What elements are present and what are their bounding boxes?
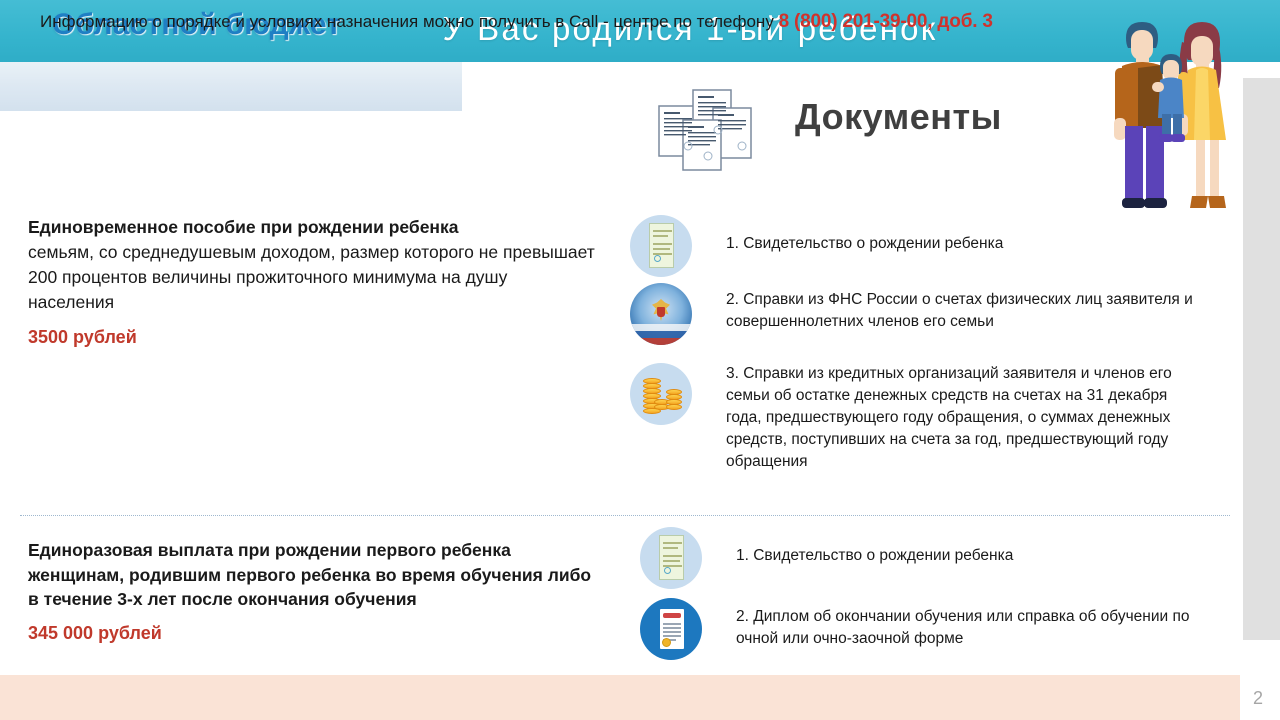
documents-stack-icon <box>655 84 761 176</box>
footer-phone-number: 8 (800) 201-39-00, доб. 3 <box>779 11 993 32</box>
coins-icon <box>630 363 692 425</box>
footer-info-label: Информацию о порядке и условиях назначен… <box>40 12 774 31</box>
right-side-panel <box>1243 78 1280 640</box>
benefit-description: семьям, со среднедушевым доходом, размер… <box>28 240 596 315</box>
family-illustration <box>1096 8 1246 220</box>
footer-band <box>0 675 1240 720</box>
benefit-block-2: Единоразовая выплата при рождении первог… <box>28 538 596 645</box>
documents-title: Документы <box>795 96 1002 138</box>
diploma-icon <box>640 598 702 660</box>
documents-heading: Документы <box>655 78 1075 178</box>
benefit-amount: 3500 рублей <box>28 325 596 349</box>
budget-banner <box>0 62 462 111</box>
benefit-block-1: Единовременное пособие при рождении ребе… <box>28 215 596 349</box>
birth-certificate-icon <box>630 215 692 277</box>
benefit-description: женщинам, родившим первого ребенка во вр… <box>28 563 596 611</box>
document-text: 3. Справки из кредитных организаций заяв… <box>726 363 1206 473</box>
fns-emblem-icon <box>630 283 692 345</box>
section-divider <box>20 515 1230 516</box>
page-number: 2 <box>1253 688 1263 709</box>
document-text: 2. Справки из ФНС России о счетах физиче… <box>726 289 1196 333</box>
document-text: 1. Свидетельство о рождении ребенка <box>736 545 1166 567</box>
footer-info-text: Информацию о порядке и условиях назначен… <box>40 10 993 34</box>
document-text: 2. Диплом об окончании обучения или спра… <box>736 606 1206 650</box>
benefit-title: Единоразовая выплата при рождении первог… <box>28 538 596 562</box>
document-text: 1. Свидетельство о рождении ребенка <box>726 233 1156 255</box>
benefit-title: Единовременное пособие при рождении ребе… <box>28 215 596 239</box>
birth-certificate-icon <box>640 527 702 589</box>
benefit-amount: 345 000 рублей <box>28 621 596 645</box>
slide-root: У Вас родился 1-ый ребенок Областной бюд… <box>0 0 1280 720</box>
